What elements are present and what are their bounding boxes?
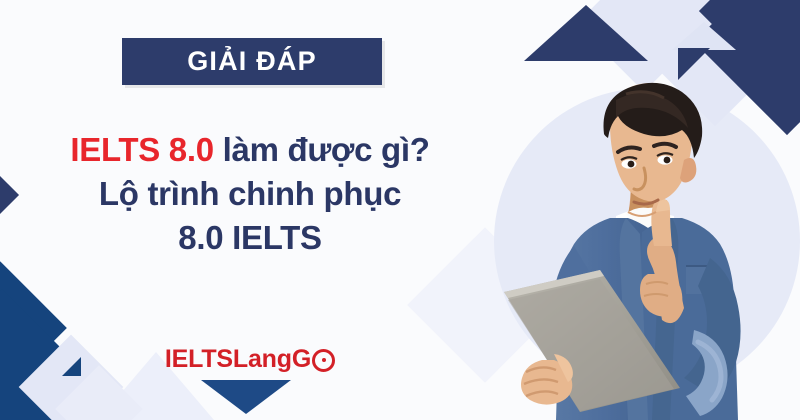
- headline-block: IELTS 8.0 làm được gì? Lộ trình chinh ph…: [0, 128, 500, 260]
- headline-line-1: IELTS 8.0 làm được gì?: [0, 128, 500, 172]
- promo-banner: GIẢI ĐÁP IELTS 8.0 làm được gì? Lộ trình…: [0, 0, 800, 420]
- brand-logo: IELTS LangG: [0, 345, 500, 374]
- brand-logo-g: G: [292, 345, 311, 374]
- target-circle-icon: [312, 349, 335, 372]
- headline-line-3: 8.0 IELTS: [0, 216, 500, 260]
- headline-line-1-rest: làm được gì?: [214, 131, 430, 168]
- brand-logo-ielts: IELTS: [165, 345, 233, 374]
- headline-line-2: Lộ trình chinh phục: [0, 172, 500, 216]
- triangle-light-up: [672, 22, 736, 50]
- brand-logo-lang: Lang: [233, 345, 292, 374]
- illustration-man-thinking: [498, 78, 798, 420]
- brand-logo-inner: IELTS LangG: [165, 345, 335, 374]
- giai-dap-badge: GIẢI ĐÁP: [122, 38, 382, 85]
- triangle-navy-down: [201, 380, 291, 414]
- headline-highlight: IELTS 8.0: [70, 131, 213, 168]
- badge-label: GIẢI ĐÁP: [187, 48, 317, 75]
- triangle-navy-up-top: [524, 5, 648, 61]
- triangle-navy-wedge: [678, 48, 710, 80]
